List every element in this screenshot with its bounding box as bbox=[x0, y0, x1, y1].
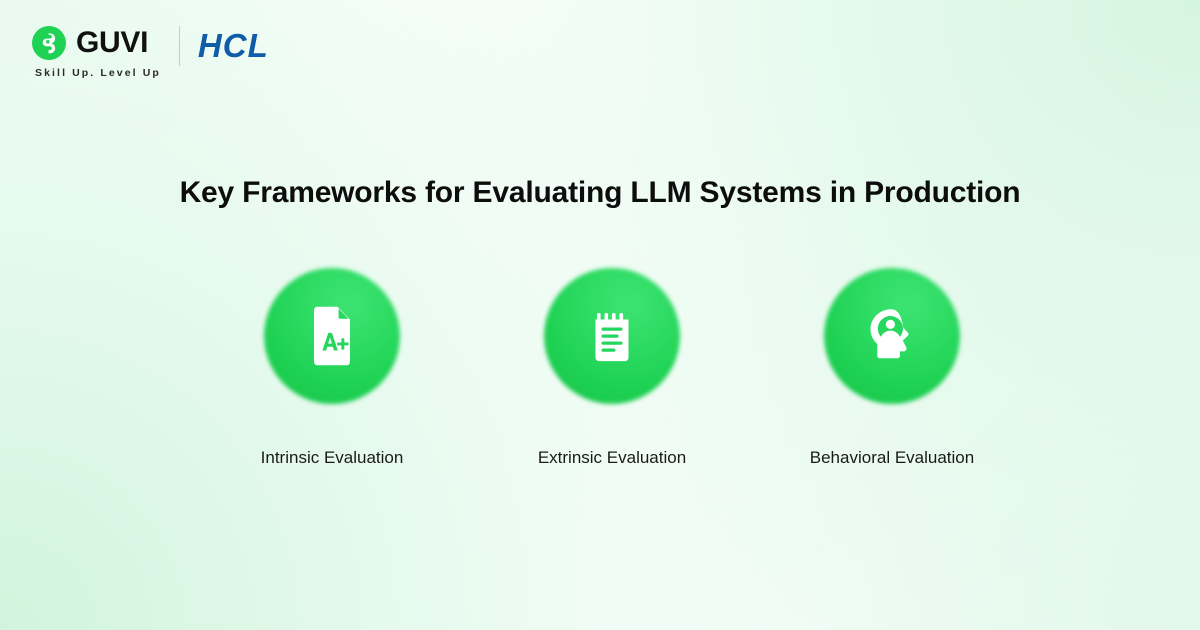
card-behavioral-evaluation[interactable]: Behavioral Evaluation bbox=[792, 268, 992, 468]
icon-circle bbox=[544, 268, 680, 404]
brand-header: GUVI Skill Up. Level Up HCL bbox=[32, 26, 269, 79]
guvi-wordmark: GUVI bbox=[76, 26, 148, 60]
logo-divider bbox=[179, 26, 180, 66]
icon-circle bbox=[264, 268, 400, 404]
card-label: Behavioral Evaluation bbox=[810, 448, 974, 468]
guvi-logo-row: GUVI bbox=[32, 26, 161, 60]
document-a-plus-icon bbox=[300, 304, 364, 368]
guvi-g-mark-icon bbox=[32, 26, 66, 60]
page-title: Key Frameworks for Evaluating LLM System… bbox=[0, 176, 1200, 210]
card-extrinsic-evaluation[interactable]: Extrinsic Evaluation bbox=[512, 268, 712, 468]
card-label: Extrinsic Evaluation bbox=[538, 448, 686, 468]
guvi-tagline: Skill Up. Level Up bbox=[35, 67, 161, 79]
guvi-logo[interactable]: GUVI Skill Up. Level Up bbox=[32, 26, 161, 79]
notepad-lines-icon bbox=[580, 304, 644, 368]
icon-circle bbox=[824, 268, 960, 404]
card-intrinsic-evaluation[interactable]: Intrinsic Evaluation bbox=[232, 268, 432, 468]
card-label: Intrinsic Evaluation bbox=[261, 448, 404, 468]
head-person-icon bbox=[860, 304, 924, 368]
hcl-logo: HCL bbox=[198, 26, 269, 66]
evaluation-cards: Intrinsic Evaluation Extrinsic Evaluat bbox=[232, 268, 992, 468]
